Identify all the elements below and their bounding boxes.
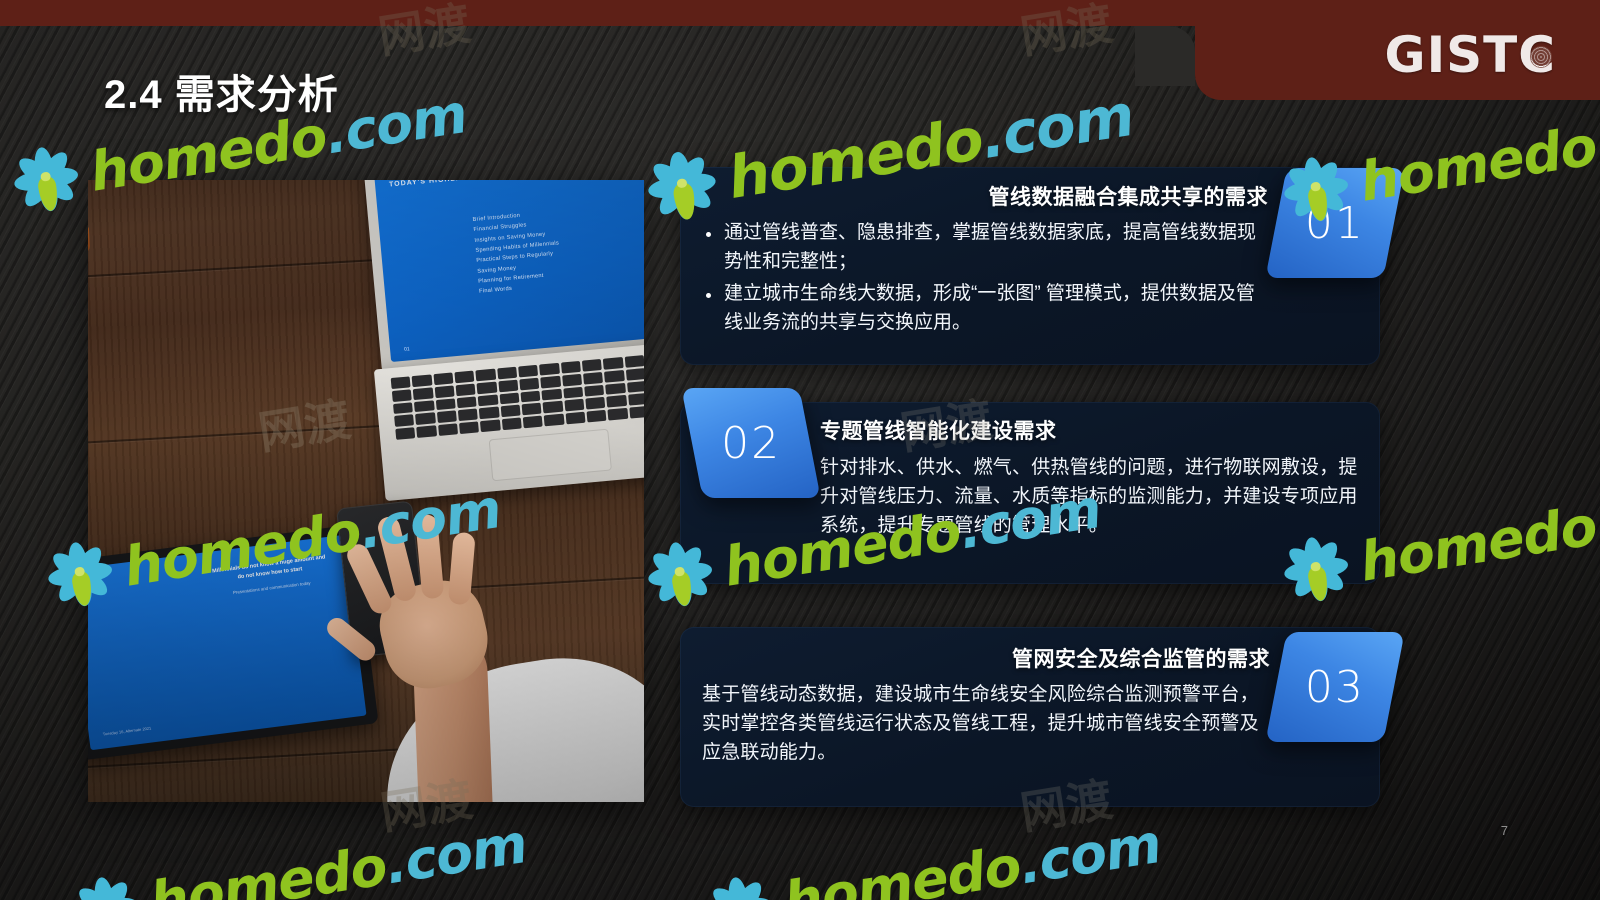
card-title: 专题管线智能化建设需求 (820, 415, 1057, 445)
header-notch (1135, 26, 1195, 86)
badge-number: 02 (721, 418, 781, 469)
badge-number: 03 (1305, 662, 1365, 713)
card-number-badge-01: 01 (1265, 168, 1404, 278)
brand-logo: GISTC (1385, 26, 1556, 84)
page-title: 2.4 需求分析 (104, 62, 339, 120)
presentation-slide: GISTC 2.4 需求分析 TODAY'S HIGHLIGHTS (0, 0, 1600, 900)
fingerprint-icon (1530, 46, 1552, 68)
card-number-badge-02: 02 (681, 388, 820, 498)
card-title: 管网安全及综合监管的需求 (1012, 643, 1270, 673)
list-item: 通过管线普查、隐患排查，掌握管线数据家底，提高管线数据现势性和完整性； (702, 219, 1260, 277)
card-body: 基于管线动态数据，建设城市生命线安全风险综合监测预警平台，实时掌控各类管线运行状… (702, 681, 1268, 768)
page-number: 7 (1501, 823, 1508, 838)
desk-photo-image: TODAY'S HIGHLIGHTS Brief Introduction Fi… (88, 180, 644, 802)
card-title: 管线数据融合集成共享的需求 (989, 181, 1269, 211)
card-bullets: 通过管线普查、隐患排查，掌握管线数据家底，提高管线数据现势性和完整性； 建立城市… (702, 219, 1260, 341)
badge-number: 01 (1305, 198, 1365, 249)
card-body: 针对排水、供水、燃气、供热管线的问题，进行物联网敷设，提升对管线压力、流量、水质… (820, 454, 1360, 541)
card-number-badge-03: 03 (1265, 632, 1404, 742)
list-item: 建立城市生命线大数据，形成“一张图” 管理模式，提供数据及管线业务流的共享与交换… (702, 280, 1260, 338)
slide-photo: TODAY'S HIGHLIGHTS Brief Introduction Fi… (88, 180, 644, 802)
photo-shading (88, 180, 644, 802)
